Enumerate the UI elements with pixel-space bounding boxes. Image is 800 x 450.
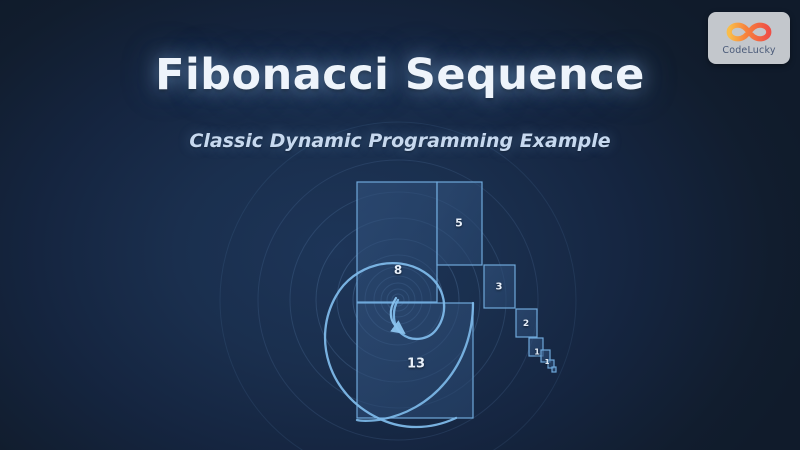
codelucky-logo: CodeLucky: [708, 12, 790, 64]
fib-label-8: 8: [394, 263, 402, 277]
fib-square-8: [357, 182, 437, 302]
slide-canvas: 13 8 5 3 2 1 1 Fibonacci Sequence Classi…: [0, 0, 800, 450]
fib-square-1d: [552, 367, 556, 372]
page-subtitle: Classic Dynamic Programming Example: [0, 130, 800, 152]
infinity-loop-icon: [726, 21, 772, 43]
page-title: Fibonacci Sequence: [0, 50, 800, 100]
fib-label-3: 3: [496, 282, 503, 293]
fib-label-1a: 1: [534, 348, 540, 357]
fib-label-13: 13: [407, 357, 425, 372]
logo-brand-text: CodeLucky: [722, 45, 775, 56]
fib-label-1b: 1: [545, 358, 550, 366]
fib-label-2: 2: [523, 319, 529, 329]
fib-label-5: 5: [455, 217, 463, 230]
